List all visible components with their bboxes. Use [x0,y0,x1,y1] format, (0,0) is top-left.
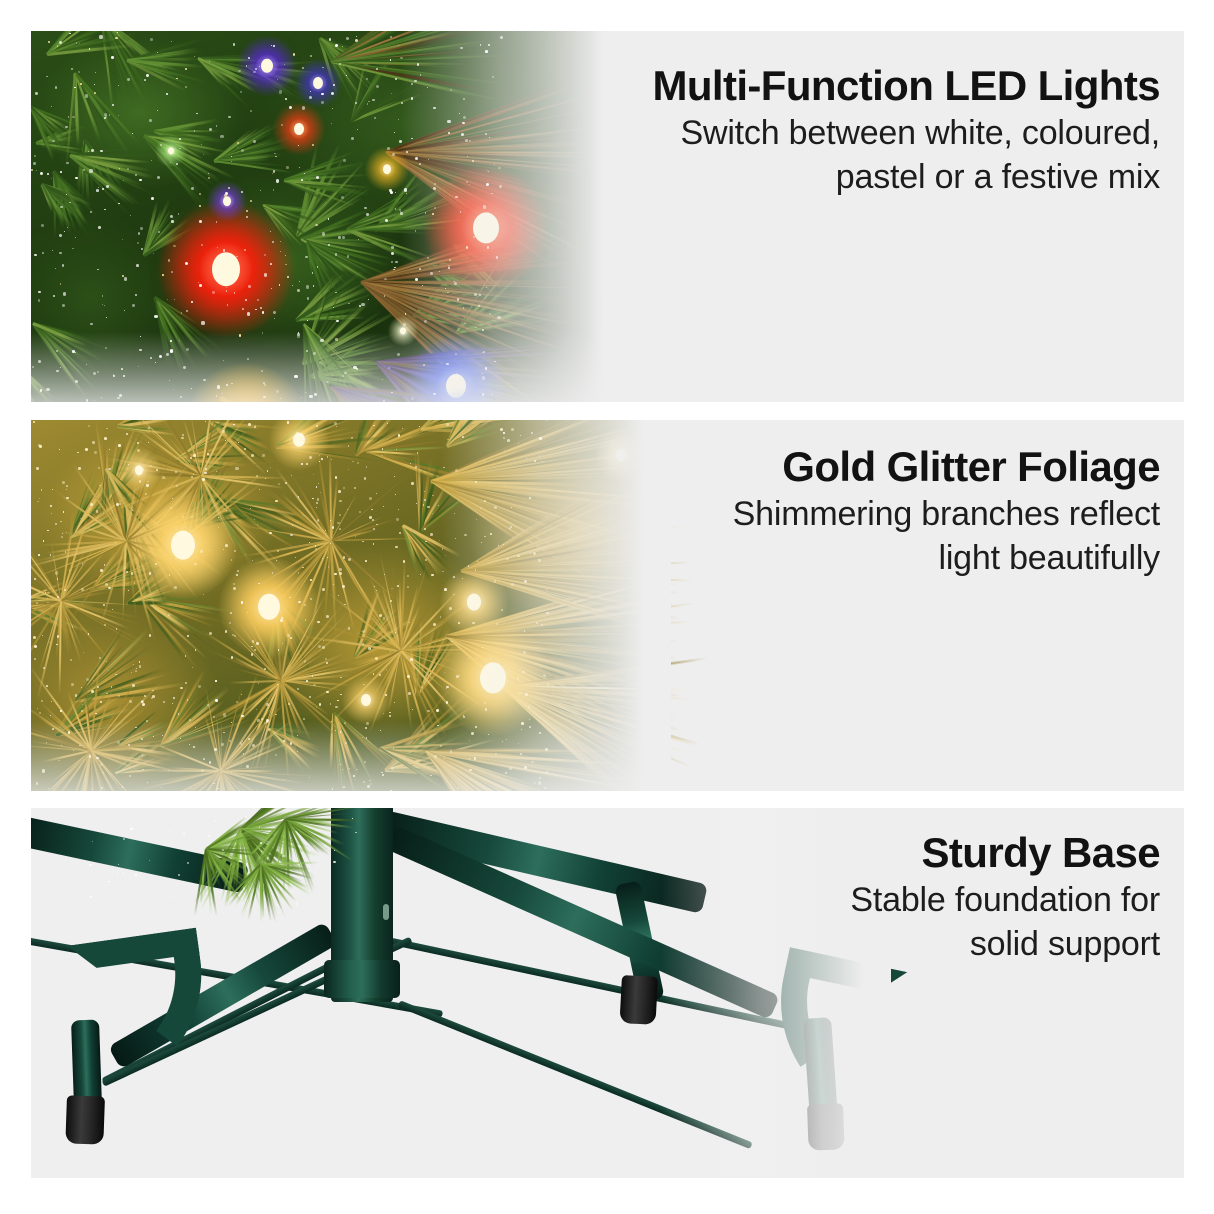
glitter-speck [38,444,41,447]
glitter-speck [267,470,268,471]
glitter-speck [245,299,247,301]
glitter-speck [151,160,152,161]
glitter-speck [366,213,368,215]
glitter-speck [41,489,42,490]
glitter-speck [286,166,289,169]
glitter-speck [424,491,425,492]
glitter-speck [321,458,323,460]
led-bulb-core [168,147,174,154]
glitter-speck [47,602,48,603]
glitter-speck [275,500,277,502]
glitter-speck [191,301,193,303]
glitter-speck [272,173,273,174]
glitter-speck [35,883,36,884]
glitter-speck [194,56,195,57]
glitter-speck [139,480,141,482]
glitter-speck [91,149,94,152]
glitter-speck [96,510,98,512]
glitter-speck [298,442,300,444]
glitter-speck [387,147,390,150]
glitter-speck [395,632,396,633]
glitter-speck [149,572,151,574]
glitter-speck [154,315,157,318]
glitter-speck [265,478,266,479]
glitter-speck [60,521,61,522]
glitter-speck [181,312,183,314]
glitter-speck [244,448,246,450]
glitter-speck [319,455,320,456]
glitter-speck [327,456,329,458]
glitter-speck [171,271,173,273]
led-bulb-core [261,59,273,73]
glitter-speck [216,221,217,222]
glitter-speck [229,622,231,624]
glitter-speck [36,170,37,171]
glitter-speck [57,596,59,598]
glitter-speck [375,657,378,660]
glitter-speck [262,454,265,457]
glitter-speck [66,162,68,164]
glitter-speck [331,459,332,460]
glitter-speck [390,59,391,60]
led-bulb-core [294,123,304,135]
glitter-speck [352,461,353,462]
glitter-speck [173,245,175,247]
glitter-speck [272,572,273,573]
glitter-speck [355,102,357,104]
glitter-speck [254,519,255,520]
glitter-speck [109,449,110,450]
glitter-speck [234,550,236,552]
glitter-speck [315,548,317,550]
glitter-speck [124,567,126,569]
glitter-speck [136,264,139,267]
glitter-speck [343,159,346,162]
glitter-speck [222,430,225,433]
glitter-speck [323,640,324,641]
glitter-speck [235,467,238,470]
glitter-speck [366,466,367,467]
glitter-speck [89,169,92,172]
glitter-speck [175,558,176,559]
glitter-speck [80,518,81,519]
glitter-speck [395,261,397,263]
glitter-speck [348,558,351,561]
glitter-speck [170,507,172,509]
glitter-speck [66,497,68,499]
glitter-speck [187,862,189,864]
glitter-speck [66,489,67,490]
glitter-speck [328,244,330,246]
glitter-speck [291,475,292,476]
glitter-speck [334,422,337,425]
glitter-speck [330,520,331,521]
glitter-speck [231,656,234,659]
headline-sturdy-base: Sturdy Base [850,828,1160,878]
glitter-speck [66,485,68,487]
panel-gold-glitter-foliage: Gold Glitter Foliage Shimmering branches… [31,420,1184,791]
glitter-speck [271,597,273,599]
glitter-speck [322,232,325,235]
glitter-speck [179,569,180,570]
glitter-speck [157,52,158,53]
copy-block-sturdy-base: Sturdy Base Stable foundation for solid … [850,828,1160,966]
glitter-speck [86,678,89,681]
led-bulb-core [293,433,305,447]
led-bulb [158,201,294,337]
glitter-speck [243,887,245,889]
glitter-speck [76,42,77,43]
glitter-speck [61,536,62,537]
glitter-speck [322,894,323,895]
glitter-speck [106,185,109,188]
glitter-speck [183,833,185,835]
glitter-speck [138,232,140,234]
glitter-speck [273,189,274,190]
glitter-speck [34,658,36,660]
glitter-speck [202,478,205,481]
glitter-speck [258,583,260,585]
glitter-speck [201,321,204,324]
glitter-speck [148,427,150,429]
glitter-speck [364,207,367,210]
glitter-speck [151,697,153,699]
glitter-speck [298,572,300,574]
glitter-speck [178,213,179,214]
tree-branch-sprig [31,808,431,928]
glitter-speck [160,144,162,146]
glitter-speck [399,649,400,650]
glitter-speck [209,632,211,634]
glitter-speck [90,896,92,898]
glitter-speck [342,585,345,588]
glitter-speck [273,170,275,172]
glitter-speck [41,700,43,702]
led-bulb [273,103,325,155]
glitter-speck [332,526,334,528]
glitter-speck [135,294,137,296]
subline-led-lights-2: pastel or a festive mix [652,155,1160,199]
glitter-speck [212,291,215,294]
glitter-speck [68,116,70,118]
glitter-speck [340,694,342,696]
glitter-speck [236,256,238,258]
glitter-speck [223,713,226,716]
glitter-speck [389,715,390,716]
glitter-speck [49,642,50,643]
glitter-speck [316,425,317,426]
glitter-speck [250,110,252,112]
glitter-speck [115,37,117,39]
glitter-speck [316,507,317,508]
glitter-speck [150,465,152,467]
glitter-speck [432,513,433,514]
glitter-speck [424,528,426,530]
glitter-speck [355,39,358,42]
glitter-speck [228,187,230,189]
glitter-speck [275,714,276,715]
glitter-speck [85,94,88,97]
glitter-speck [104,437,107,440]
glitter-speck [281,124,283,126]
glitter-speck [351,137,354,140]
glitter-speck [335,476,337,478]
glitter-speck [319,461,320,462]
glitter-speck [118,864,119,865]
glitter-speck [407,675,410,678]
glitter-speck [199,193,201,195]
glitter-speck [245,816,247,818]
glitter-speck [407,575,409,577]
glitter-speck [293,891,294,892]
glitter-speck [339,500,341,502]
glitter-speck [298,496,299,497]
glitter-speck [208,835,210,837]
glitter-speck [427,506,430,509]
subline-sturdy-base-1: Stable foundation for [850,878,1160,922]
glitter-speck [64,589,66,591]
glitter-speck [310,579,312,581]
glitter-speck [325,658,327,660]
glitter-speck [374,586,375,587]
glitter-speck [362,541,364,543]
glitter-speck [331,123,332,124]
glitter-speck [241,149,244,152]
glitter-speck [322,67,323,68]
glitter-speck [65,126,67,128]
glitter-speck [327,557,328,558]
glitter-speck [200,550,203,553]
glitter-speck [226,287,227,288]
led-bulb [207,181,247,221]
subline-sturdy-base-2: solid support [850,922,1160,966]
glitter-speck [96,189,99,192]
glitter-speck [117,873,118,874]
feature-panel-sheet: Multi-Function LED Lights Switch between… [0,0,1214,1214]
glitter-speck [133,664,134,665]
glitter-speck [252,560,253,561]
glitter-speck [395,546,398,549]
glitter-speck [124,277,127,280]
glitter-speck [100,150,103,153]
glitter-speck [172,498,173,499]
glitter-speck [296,432,299,435]
glitter-speck [245,554,246,555]
glitter-speck [172,896,173,897]
glitter-speck [436,709,439,712]
glitter-speck [390,600,392,602]
glitter-speck [237,147,238,148]
glitter-speck [247,312,250,315]
glitter-speck [278,483,280,485]
glitter-speck [351,437,353,439]
glitter-speck [47,173,49,175]
glitter-speck [241,715,243,717]
glitter-speck [270,263,272,265]
glitter-speck [362,630,365,633]
photo-led-lights [31,31,631,402]
led-bulb-core [171,531,195,560]
glitter-speck [59,252,61,254]
photo-right-fade [441,420,671,791]
glitter-speck [167,299,168,300]
glitter-speck [355,832,356,833]
glitter-speck [78,467,81,470]
glitter-speck [336,320,338,322]
glitter-speck [335,706,338,709]
glitter-speck [340,677,341,678]
glitter-speck [119,168,120,169]
glitter-speck [38,554,40,556]
glitter-speck [163,701,165,703]
glitter-speck [410,463,411,464]
glitter-speck [254,426,256,428]
photo-right-fade [401,31,631,402]
glitter-speck [237,262,239,264]
glitter-speck [34,645,37,648]
glitter-speck [246,65,248,67]
glitter-speck [302,67,304,69]
glitter-speck [317,621,319,623]
glitter-speck [34,578,36,580]
glitter-speck [329,38,331,40]
glitter-speck [262,311,264,313]
glitter-speck [276,179,279,182]
glitter-speck [292,285,293,286]
glitter-speck [92,841,93,842]
glitter-speck [46,685,48,687]
glitter-speck [155,563,157,565]
glitter-speck [140,227,143,230]
glitter-speck [193,474,194,475]
glitter-speck [371,509,372,510]
glitter-speck [74,87,75,88]
glitter-speck [57,45,59,47]
glitter-speck [274,318,275,319]
glitter-speck [338,236,341,239]
glitter-speck [315,224,317,226]
glitter-speck [104,624,106,626]
glitter-speck [225,544,228,547]
glitter-speck [246,216,248,218]
glitter-speck [394,702,395,703]
glitter-speck [355,536,356,537]
glitter-speck [261,612,263,614]
glitter-speck [33,162,36,165]
glitter-speck [41,224,44,227]
glitter-speck [269,532,271,534]
glitter-speck [330,543,331,544]
glitter-speck [260,190,261,191]
glitter-speck [270,231,271,232]
glitter-speck [317,266,318,267]
glitter-speck [174,586,177,589]
glitter-speck [60,206,63,209]
glitter-speck [43,667,45,669]
glitter-speck [215,680,216,681]
glitter-speck [264,254,266,256]
glitter-speck [395,78,397,80]
glitter-speck [348,627,350,629]
glitter-speck [194,130,195,131]
glitter-speck [290,534,292,536]
glitter-speck [307,320,308,321]
headline-gold-foliage: Gold Glitter Foliage [733,442,1160,492]
glitter-speck [256,475,258,477]
glitter-speck [376,524,377,525]
glitter-speck [185,655,186,656]
glitter-speck [135,874,137,876]
glitter-speck [309,456,312,459]
glitter-speck [122,872,124,874]
glitter-speck [63,292,66,295]
glitter-speck [81,588,84,591]
glitter-speck [98,187,99,188]
glitter-speck [66,194,67,195]
led-bulb [219,557,319,657]
glitter-speck [247,612,248,613]
glitter-speck [226,510,227,511]
glitter-speck [65,551,66,552]
glitter-speck [142,703,145,706]
glitter-speck [233,587,236,590]
glitter-speck [58,863,59,864]
glitter-speck [391,261,393,263]
glitter-speck [37,708,38,709]
glitter-speck [230,612,232,614]
glitter-speck [123,838,125,840]
glitter-speck [157,176,160,179]
glitter-speck [108,670,109,671]
glitter-speck [226,290,227,291]
glitter-speck [139,665,141,667]
glitter-speck [251,454,254,457]
glitter-speck [387,423,388,424]
glitter-speck [296,903,298,905]
glitter-speck [98,226,101,229]
glitter-speck [94,84,95,85]
glitter-speck [224,194,226,196]
copy-block-gold-foliage: Gold Glitter Foliage Shimmering branches… [733,442,1160,580]
glitter-speck [60,171,62,173]
glitter-speck [135,174,137,176]
glitter-speck [213,716,214,717]
glitter-speck [285,482,287,484]
glitter-speck [397,585,399,587]
glitter-speck [36,602,38,604]
subline-gold-foliage-2: light beautifully [733,536,1160,580]
glitter-speck [208,177,210,179]
glitter-speck [334,573,337,576]
glitter-speck [51,513,52,514]
glitter-speck [178,874,179,875]
glitter-speck [108,587,110,589]
headline-led-lights: Multi-Function LED Lights [652,61,1160,111]
glitter-speck [179,138,181,140]
glitter-speck [270,467,271,468]
glitter-speck [55,86,57,88]
glitter-speck [352,818,353,819]
glitter-speck [408,692,411,695]
glitter-speck [394,476,395,477]
glitter-speck [104,564,106,566]
glitter-speck [205,421,206,422]
led-bulb [342,676,390,724]
glitter-speck [207,704,209,706]
glitter-speck [255,425,256,426]
glitter-speck [221,253,223,255]
glitter-speck [316,176,319,179]
